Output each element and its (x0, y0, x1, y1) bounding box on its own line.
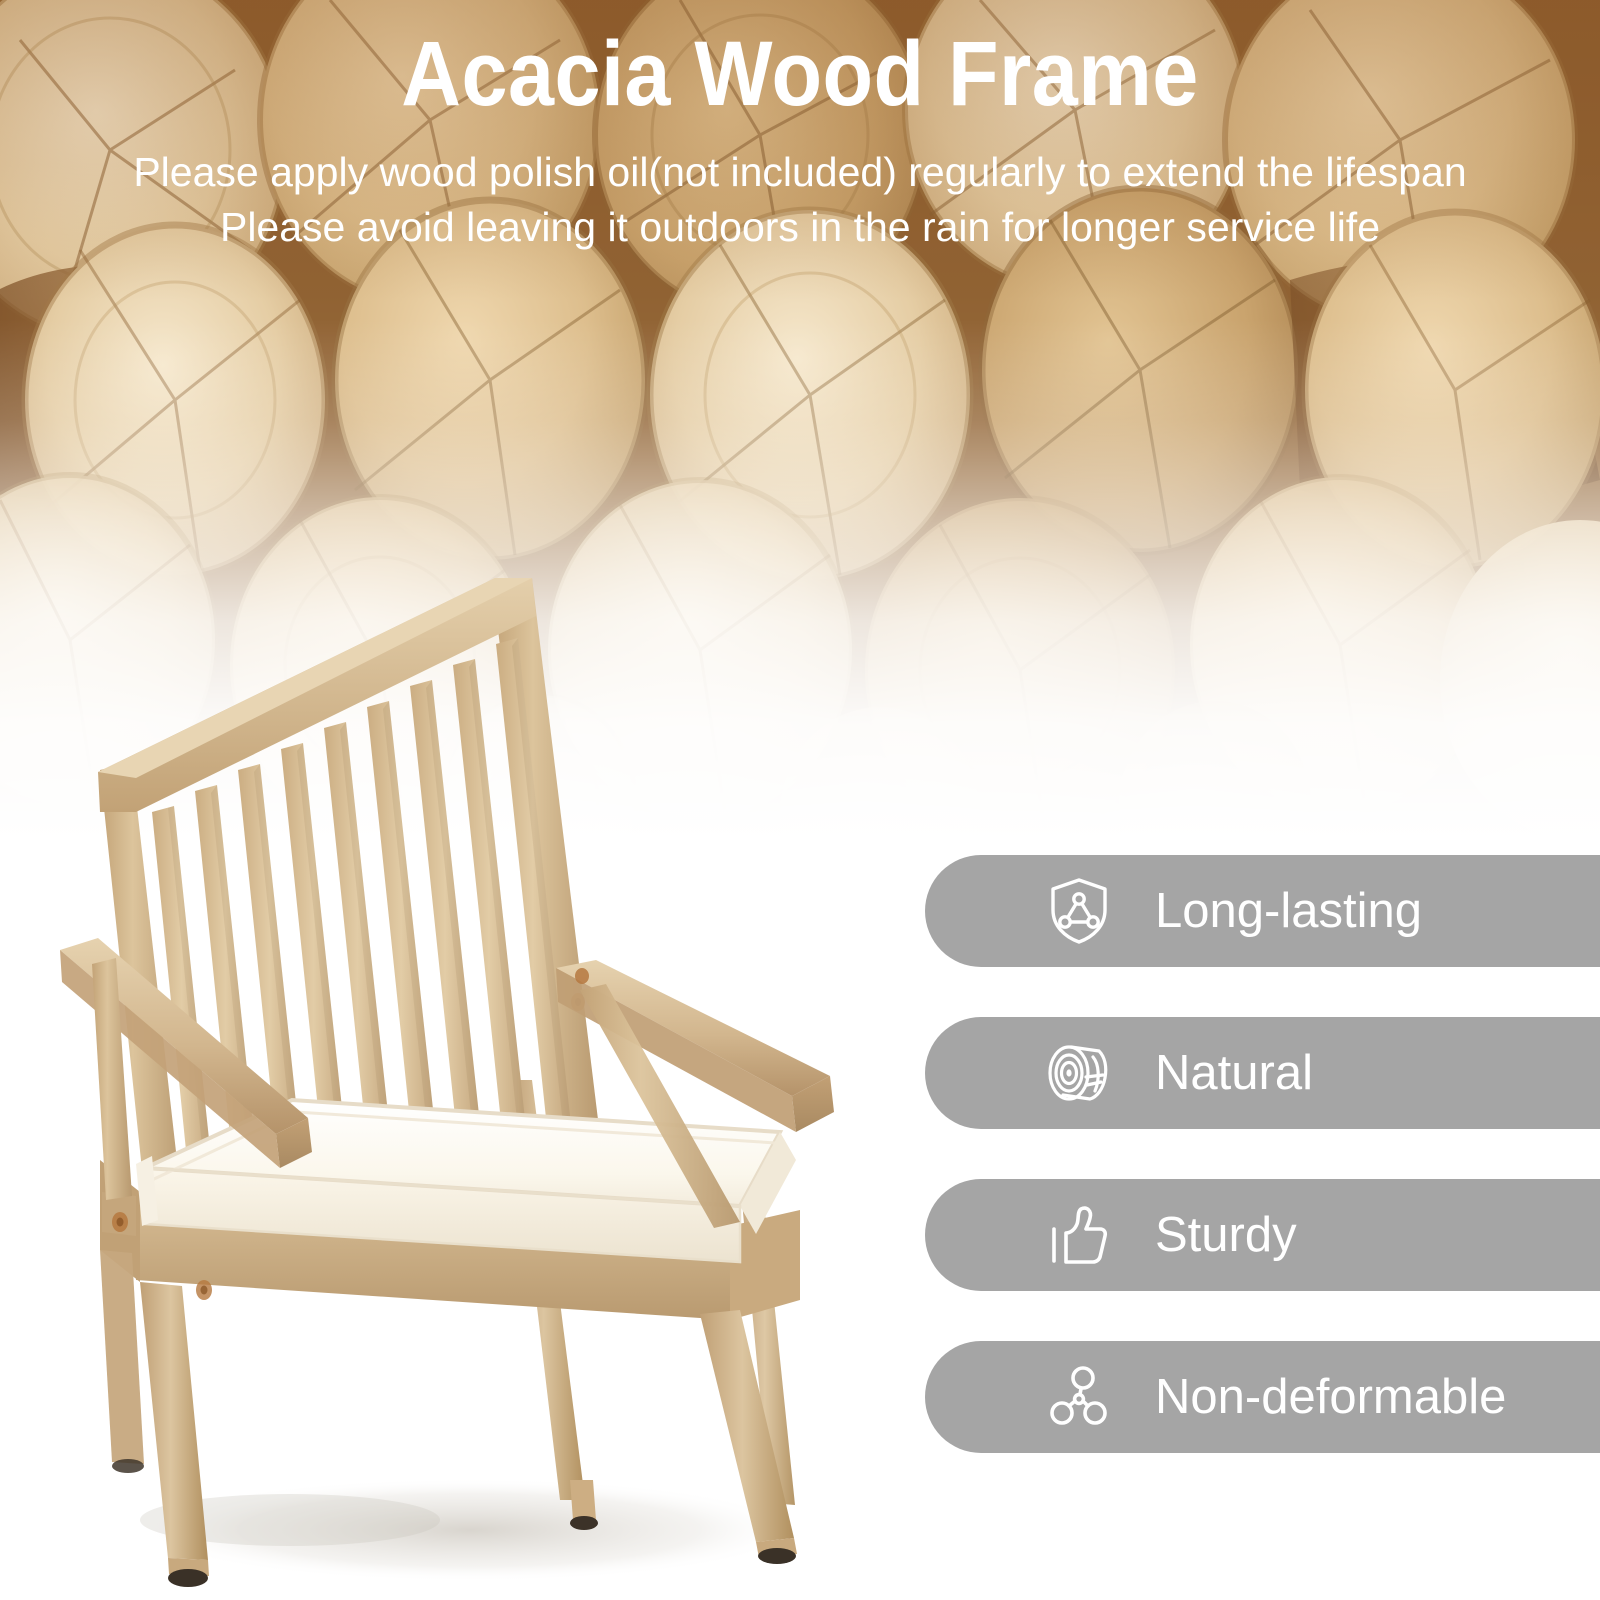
feature-pill-non-deformable[interactable]: Non-deformable (925, 1341, 1600, 1453)
feature-pill-list: Long-lasting Natural (925, 855, 1600, 1503)
wood-log-rings-icon (1043, 1037, 1115, 1109)
molecule-nodes-icon (1043, 1361, 1115, 1433)
header-block: Acacia Wood Frame Please apply wood poli… (0, 0, 1600, 255)
feature-pill-label: Sturdy (1155, 1211, 1297, 1260)
subtitle-line-1: Please apply wood polish oil(not include… (0, 120, 1600, 199)
page-title: Acacia Wood Frame (80, 0, 1520, 120)
product-image-chair (40, 520, 920, 1600)
feature-pill-label: Natural (1155, 1049, 1313, 1098)
feature-pill-sturdy[interactable]: Sturdy (925, 1179, 1600, 1291)
feature-pill-long-lasting[interactable]: Long-lasting (925, 855, 1600, 967)
feature-pill-label: Long-lasting (1155, 887, 1422, 936)
feature-pill-natural[interactable]: Natural (925, 1017, 1600, 1129)
product-feature-banner: Acacia Wood Frame Please apply wood poli… (0, 0, 1600, 1600)
shield-triangle-nodes-icon (1043, 875, 1115, 947)
feature-pill-label: Non-deformable (1155, 1373, 1506, 1422)
subtitle-line-2: Please avoid leaving it outdoors in the … (0, 199, 1600, 254)
thumbs-up-icon (1043, 1199, 1115, 1271)
